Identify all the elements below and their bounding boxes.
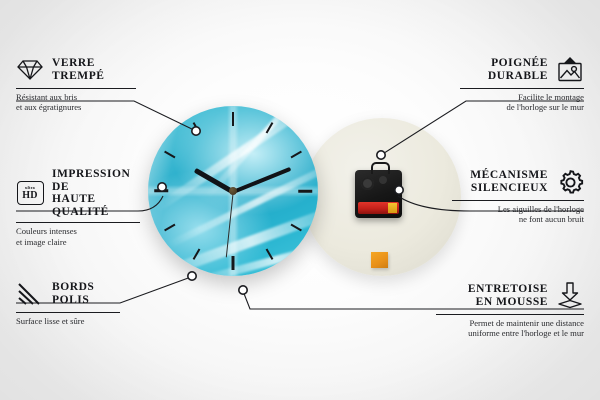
polished-edge-icon [16,280,44,308]
feature-impression-haute-qualite: ultra HD IMPRESSION DE HAUTE QUALITÉ Cou… [16,168,140,247]
feature-bords-polis: BORDS POLIS Surface lisse et sûre [16,280,120,326]
feature-title: VERRE TREMPÉ [52,57,105,82]
mechanism-dial [361,177,374,190]
feature-title: MÉCANISME SILENCIEUX [470,169,548,194]
feature-subtitle: Facilite le montage de l'horloge sur le … [460,92,584,113]
clock-front-view [148,106,318,276]
feature-title: ENTRETOISE EN MOUSSE [468,283,548,308]
feature-subtitle: Les aiguilles de l'horloge ne font aucun… [452,204,584,225]
feature-rule [436,314,584,315]
feature-rule [16,312,120,313]
clock-tick [154,190,168,193]
feature-entretoise-en-mousse: ENTRETOISE EN MOUSSE Permet de maintenir… [436,282,584,339]
ultra-hd-icon-main-label: HD [22,191,38,201]
gear-icon [556,168,584,196]
clock-mechanism [355,170,402,218]
feature-mecanisme-silencieux: MÉCANISME SILENCIEUX Les aiguilles de l'… [452,168,584,225]
clock-tick [232,112,235,126]
feature-title: POIGNÉE DURABLE [488,57,548,82]
feature-title: BORDS POLIS [52,281,94,306]
feature-subtitle: Résistant aux bris et aux égratignures [16,92,136,113]
feature-title: IMPRESSION DE HAUTE QUALITÉ [52,168,140,218]
infographic-canvas: VERRE TREMPÉ Résistant aux bris et aux é… [0,0,600,400]
foam-spacer-pad [371,252,388,268]
feature-subtitle: Surface lisse et sûre [16,316,120,326]
feature-rule [16,222,140,223]
feature-subtitle: Permet de maintenir une distance uniform… [436,318,584,339]
picture-hanger-icon [556,56,584,84]
mechanism-dial-secondary [379,176,387,184]
clock-tick [298,190,312,193]
battery [358,202,399,214]
hands-center-cap [229,187,237,195]
feature-rule [16,88,136,89]
press-down-icon [556,282,584,310]
feature-subtitle: Couleurs intenses et image claire [16,226,140,247]
feature-verre-trempe: VERRE TREMPÉ Résistant aux bris et aux é… [16,56,136,113]
ultra-hd-icon: ultra HD [16,179,44,207]
feature-rule [452,200,584,201]
feature-poignee-durable: POIGNÉE DURABLE Facilite le montage de l… [460,56,584,113]
diamond-icon [16,56,44,84]
clock-tick [232,256,235,270]
feature-rule [460,88,584,89]
